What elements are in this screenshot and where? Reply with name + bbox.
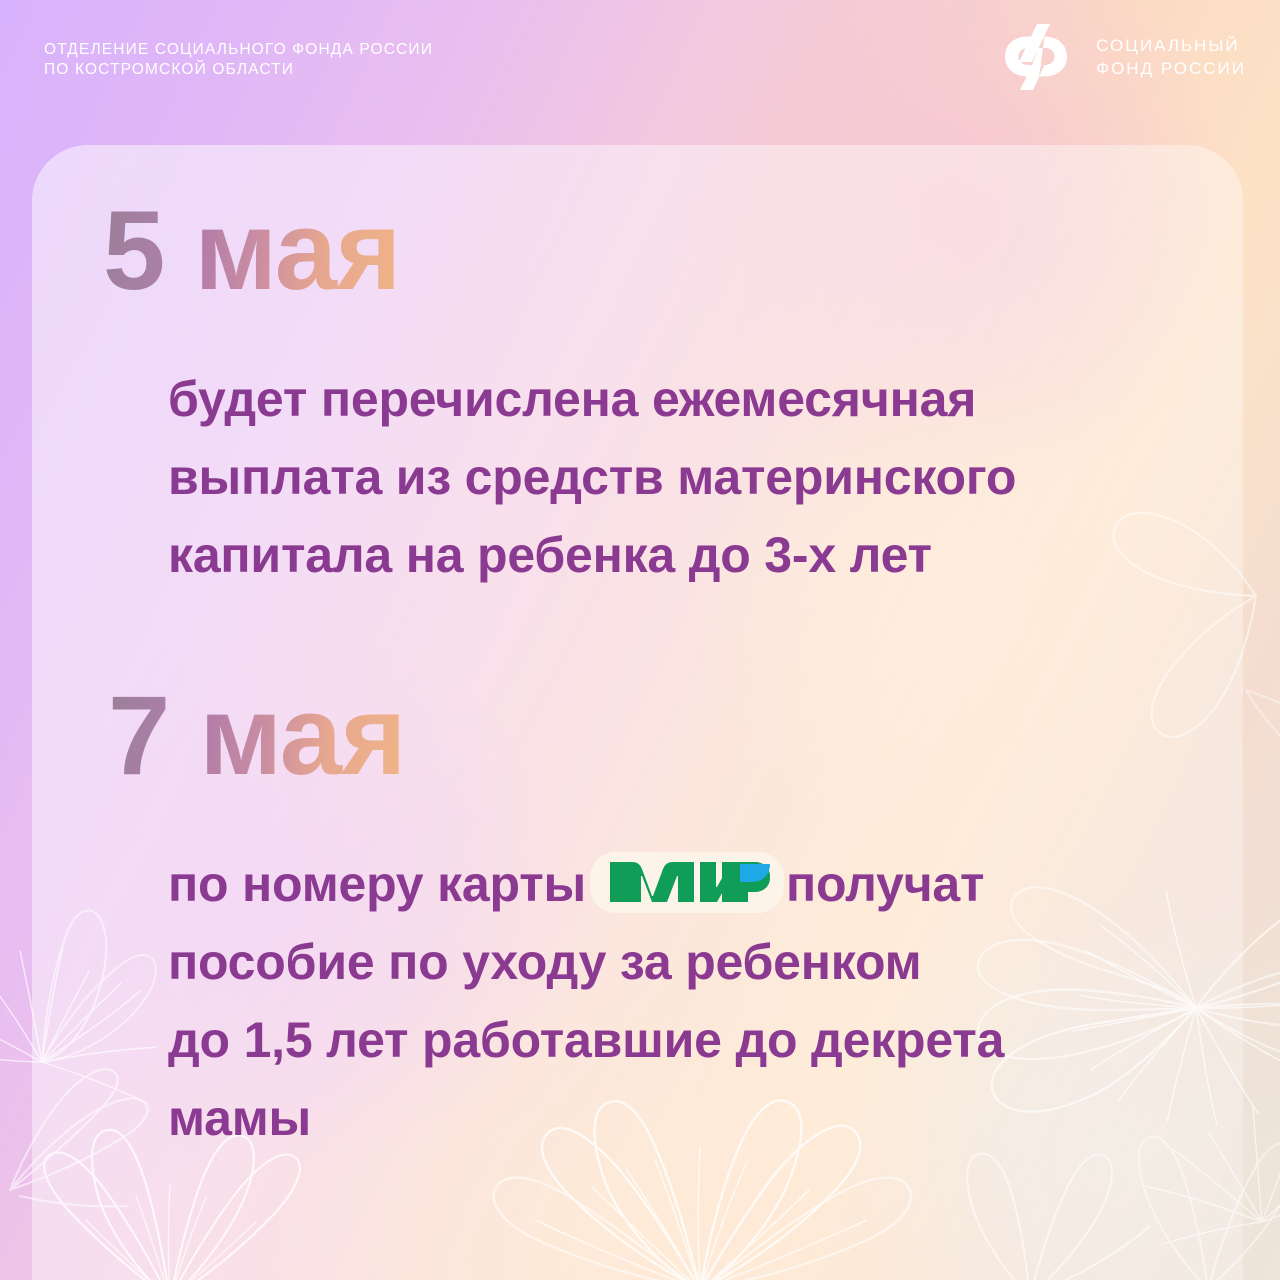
announcement-block-1: 5 мая [103,195,400,307]
announcement-text-1-line-2: выплата из средств материнского [168,438,1228,516]
mir-logo-chip [590,852,784,913]
announcement-block-2: 7 мая [108,680,405,792]
brand-name-line-2: ФОНД РОССИИ [1096,57,1246,80]
announcement-text-2-line-4: мамы [168,1079,1228,1157]
organization-name: ОТДЕЛЕНИЕ СОЦИАЛЬНОГО ФОНДА РОССИИ ПО КО… [44,40,433,80]
brand-name-line-1: СОЦИАЛЬНЫЙ [1096,34,1246,57]
announcement-text-2-line-2: пособие по уходу за ребенком [168,923,1228,1001]
announcement-text-1-line-3: капитала на ребенка до 3-х лет [168,516,1228,594]
date-heading-1: 5 мая [103,195,400,307]
header: ОТДЕЛЕНИЕ СОЦИАЛЬНОГО ФОНДА РОССИИ ПО КО… [0,0,1280,118]
announcement-text-2-line-1-after: получат [786,856,984,912]
date-heading-2: 7 мая [108,680,405,792]
announcement-text-2-line-1-before: по номеру карты [168,856,586,912]
announcement-text-2-line-1: по номеру карты получат [168,845,1228,923]
announcement-text-2: по номеру карты получат пособие по уходу… [168,845,1228,1157]
mir-payment-system-logo-icon [604,856,772,908]
announcement-text-1: будет перечислена ежемесячная выплата из… [168,360,1228,594]
organization-name-line-1: ОТДЕЛЕНИЕ СОЦИАЛЬНОГО ФОНДА РОССИИ [44,40,433,60]
organization-name-line-2: ПО КОСТРОМСКОЙ ОБЛАСТИ [44,60,433,80]
brand-name: СОЦИАЛЬНЫЙ ФОНД РОССИИ [1096,34,1246,80]
brand-lockup: СОЦИАЛЬНЫЙ ФОНД РОССИИ [996,24,1246,90]
announcement-text-2-line-3: до 1,5 лет работавшие до декрета [168,1001,1228,1079]
announcement-text-1-line-1: будет перечислена ежемесячная [168,360,1228,438]
sfr-monogram-icon [996,24,1082,90]
